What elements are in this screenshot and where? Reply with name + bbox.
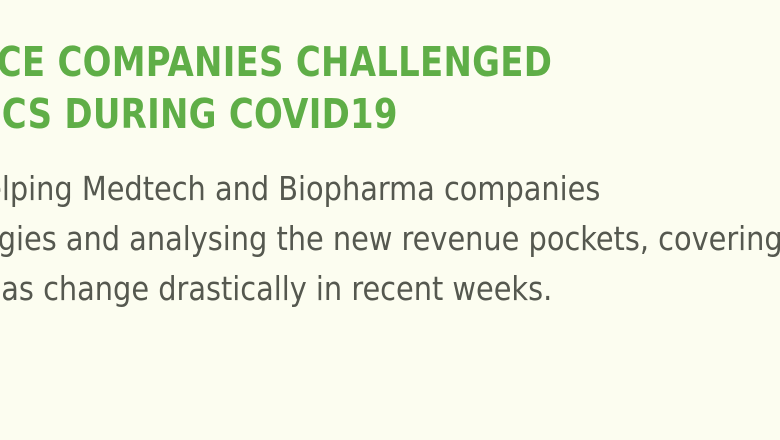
body-line-1: Our team is helping Medtech and Biopharm… (0, 164, 780, 214)
promo-banner: LIFE SCIENCE COMPANIES CHALLENGED BY DYN… (0, 0, 780, 440)
body-line-3: demand that has change drastically in re… (0, 264, 780, 314)
headline-line-1: LIFE SCIENCE COMPANIES CHALLENGED (0, 0, 780, 88)
headline-line-2: BY DYNAMICS DURING COVID19 (0, 88, 780, 140)
page-title: LIFE SCIENCE COMPANIES CHALLENGED BY DYN… (0, 0, 780, 140)
banner-content: LIFE SCIENCE COMPANIES CHALLENGED BY DYN… (0, 0, 780, 314)
banner-description: Our team is helping Medtech and Biopharm… (0, 140, 780, 314)
body-line-2: reshape strategies and analysing the new… (0, 214, 780, 264)
